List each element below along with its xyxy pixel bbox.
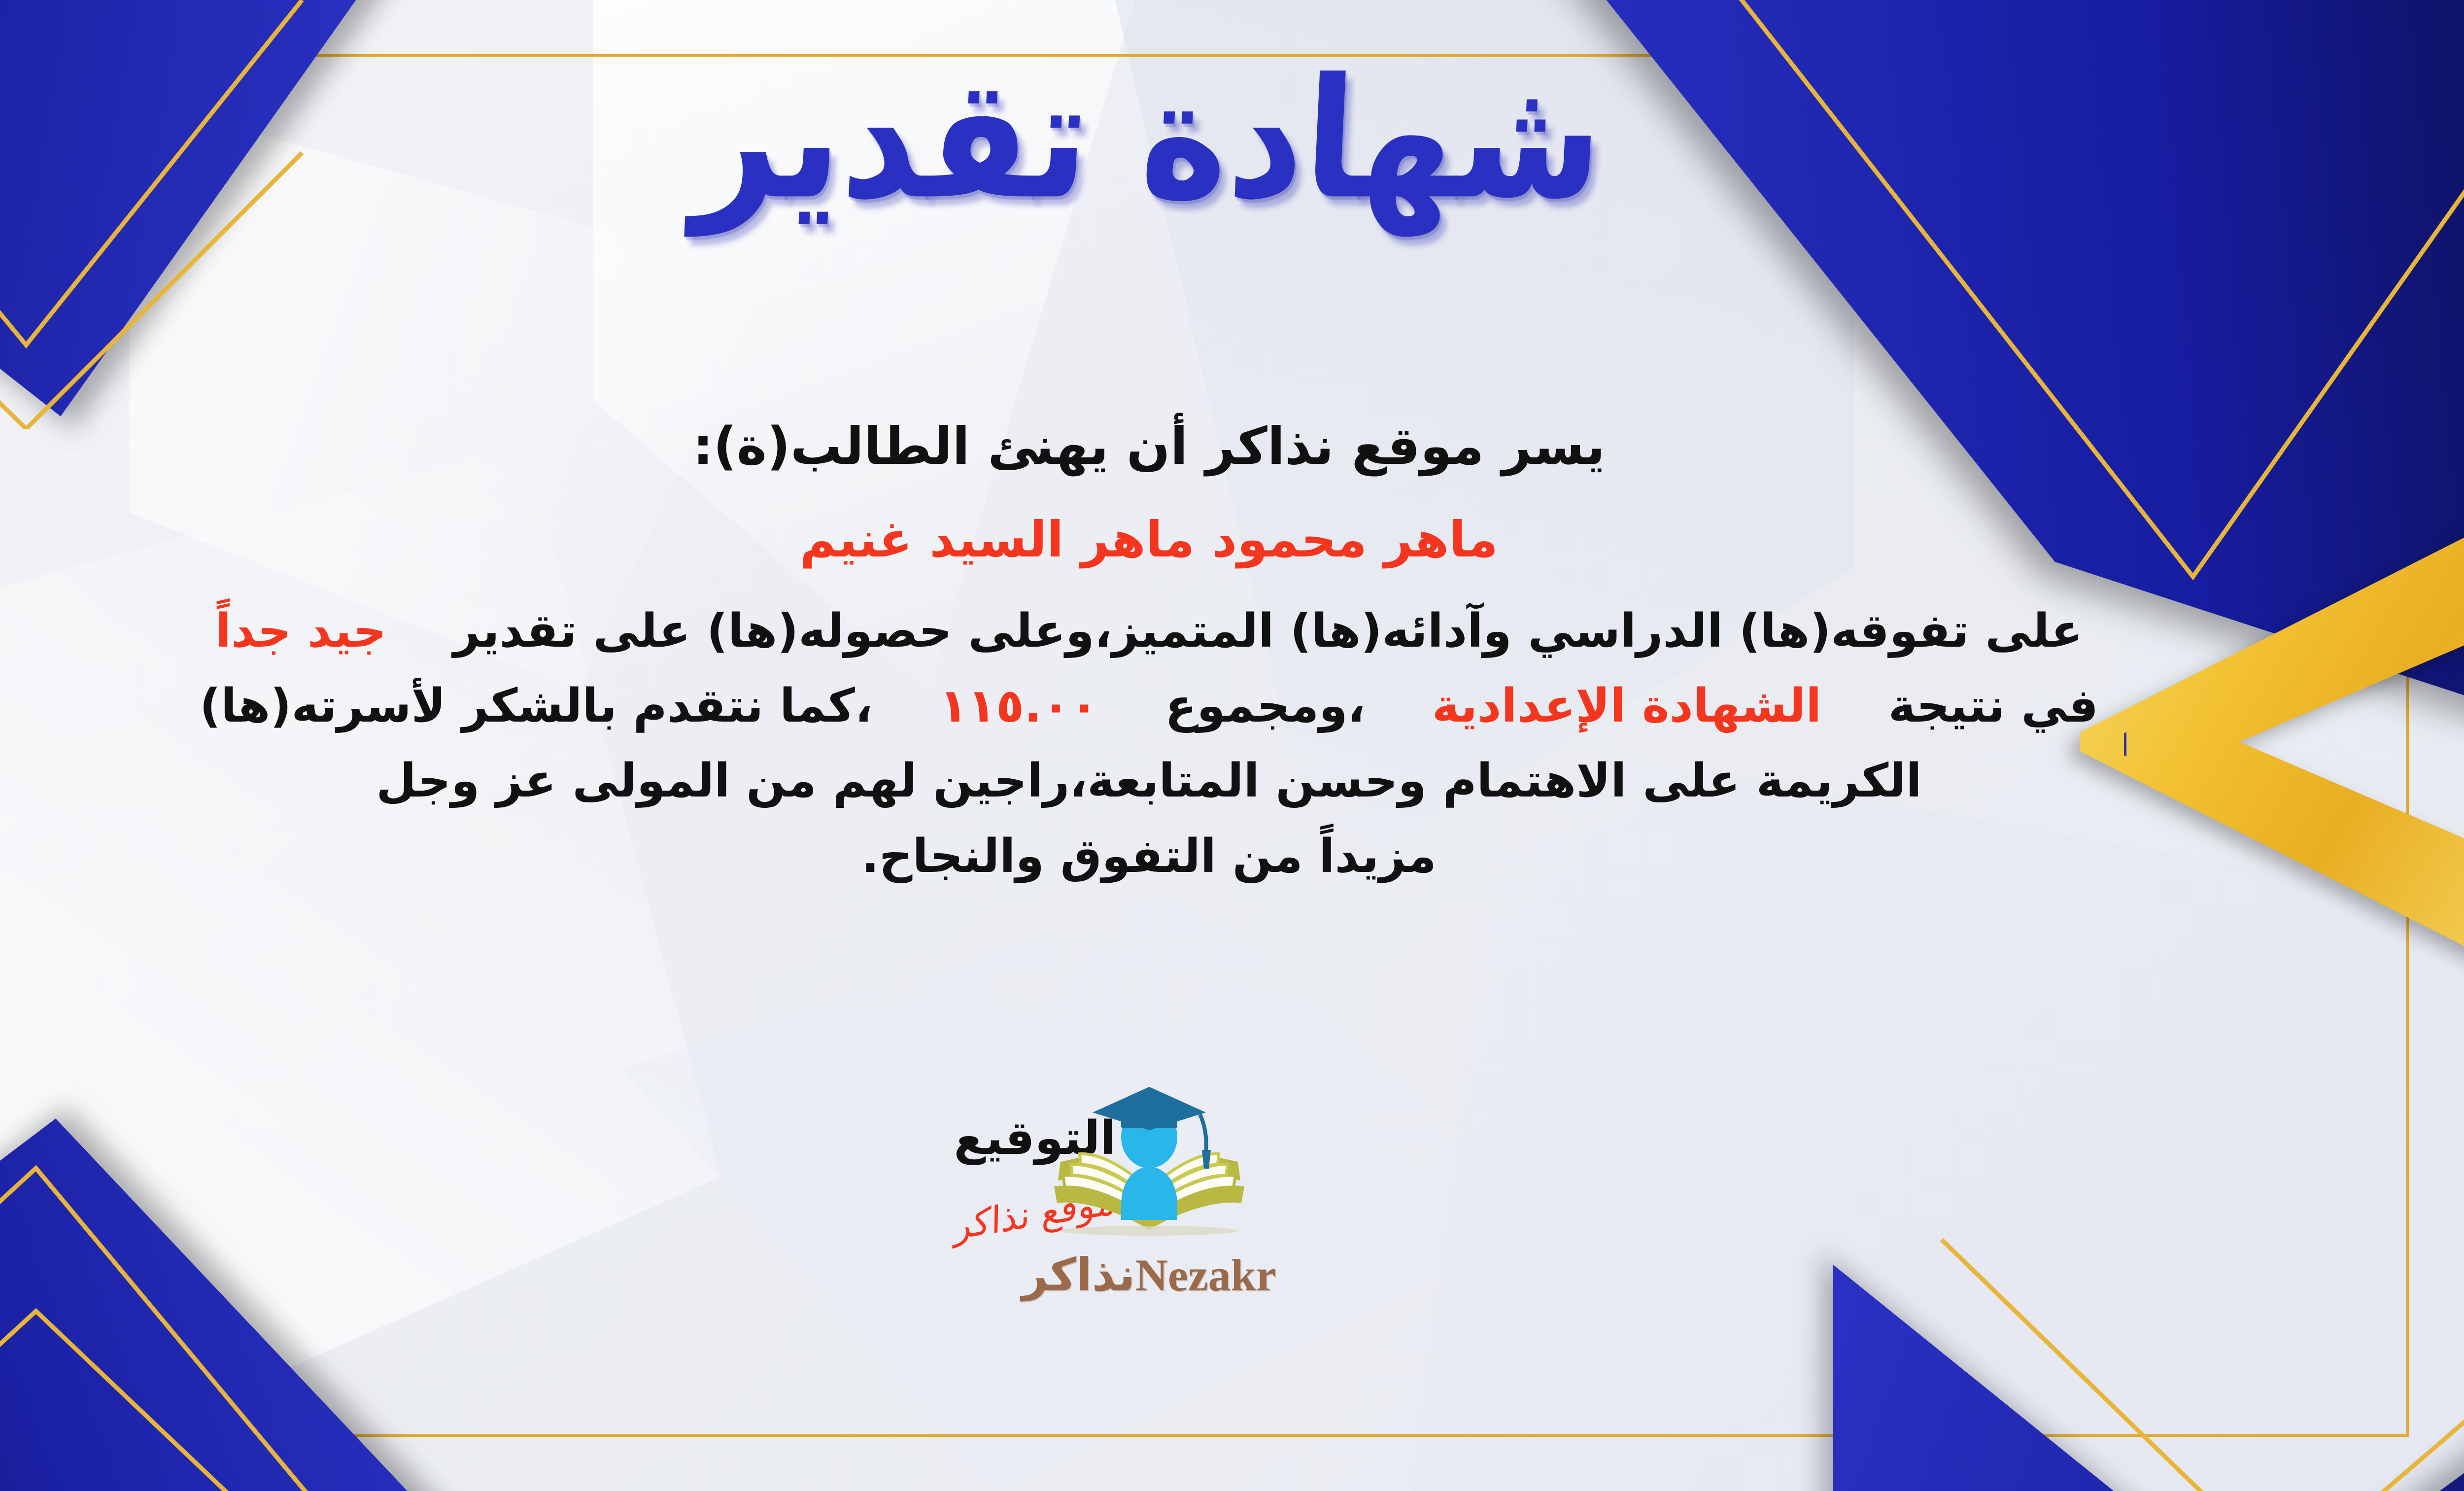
citation-line-2b: ،ومجموع	[1165, 679, 1365, 733]
site-logo-block: Nezakrنذاكر	[0, 1082, 2464, 1301]
grade-value: جيد جداً	[215, 604, 386, 658]
certificate-canvas: شهادة تقدير يسر موقع نذاكر أن يهنئ الطال…	[0, 0, 2464, 1491]
citation-paragraph: على تفوقه(ها) الدراسي وآدائه(ها) المتميز…	[0, 594, 2316, 894]
graduation-book-logo-icon	[1043, 1082, 1255, 1245]
citation-line-4: مزيداً من التفوق والنجاح.	[861, 830, 1437, 883]
student-name: ماهر محمود ماهر السيد غنيم	[0, 511, 2316, 568]
certificate-body: يسر موقع نذاكر أن يهنئ الطالب(ة): ماهر م…	[0, 409, 2316, 894]
citation-line-2a: في نتيجة	[1888, 679, 2098, 733]
citation-line-2c: ،كما نتقدم بالشكر لأسرته(ها)	[200, 679, 873, 733]
citation-line-1: على تفوقه(ها) الدراسي وآدائه(ها) المتميز…	[453, 604, 2083, 658]
site-logo-text: Nezakrنذاكر	[0, 1248, 2464, 1301]
total-score-value: ١١٥.٠٠	[939, 679, 1098, 733]
logo-name-latin: Nezakr	[1135, 1250, 1276, 1300]
stage-value: الشهادة الإعدادية	[1432, 679, 1821, 733]
certificate-title: شهادة تقدير	[690, 36, 1608, 243]
citation-line-3: الكريمة على الاهتمام وحسن المتابعة،راجين…	[376, 754, 1921, 808]
greeting-line: يسر موقع نذاكر أن يهنئ الطالب(ة):	[0, 409, 2316, 484]
logo-name-arabic: نذاكر	[1022, 1248, 1135, 1301]
certificate-footer: التوقيع موقع نذاكر	[0, 1111, 2464, 1427]
certificate-title-area: شهادة تقدير	[0, 47, 2464, 254]
